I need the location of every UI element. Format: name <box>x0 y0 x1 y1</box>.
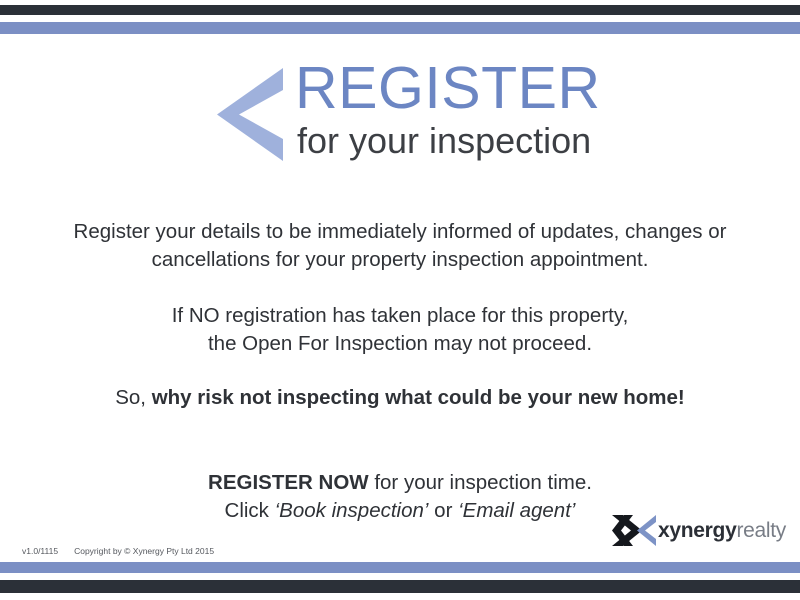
paragraph-emphasis: So, why risk not inspecting what could b… <box>50 384 750 412</box>
paragraph-warning: If NO registration has taken place for t… <box>50 302 750 358</box>
cta-option-book-inspection: ‘Book inspection’ <box>275 499 429 522</box>
paragraph-warning-line2: the Open For Inspection may not proceed. <box>50 330 750 358</box>
brand-logo: xynergyrealty <box>612 513 786 547</box>
brand-name-primary: xynergy <box>658 519 736 542</box>
spacer <box>50 358 750 384</box>
masthead: REGISTER for your inspection <box>0 58 800 173</box>
page-title: REGISTER <box>295 58 575 118</box>
paragraph-intro-line1: Register your details to be immediately … <box>50 218 750 246</box>
spacer <box>50 274 750 302</box>
paragraph-intro: Register your details to be immediately … <box>50 218 750 274</box>
bottom-blue-rule <box>0 562 800 573</box>
paragraph-intro-line2: cancellations for your property inspecti… <box>50 246 750 274</box>
cta-click-prefix: Click <box>225 499 275 522</box>
paragraph-emphasis-bold: why risk not inspecting what could be yo… <box>152 386 685 409</box>
page-subtitle: for your inspection <box>297 120 575 162</box>
spacer <box>50 412 750 469</box>
cta-register-now: REGISTER NOW <box>208 471 369 494</box>
footer: v1.0/1115Copyright by © Xynergy Pty Ltd … <box>22 545 214 557</box>
cta-conjunction: or <box>428 499 458 522</box>
cta-line1-rest: for your inspection time. <box>369 471 592 494</box>
body-copy: Register your details to be immediately … <box>50 218 750 525</box>
bottom-dark-rule <box>0 580 800 593</box>
paragraph-warning-line1: If NO registration has taken place for t… <box>50 302 750 330</box>
brand-logo-text: xynergyrealty <box>658 520 786 541</box>
paragraph-cta-line1: REGISTER NOW for your inspection time. <box>50 469 750 497</box>
xynergy-x-mark-icon <box>612 515 656 546</box>
footer-copyright: Copyright by © Xynergy Pty Ltd 2015 <box>74 546 214 556</box>
masthead-title-block: REGISTER for your inspection <box>295 58 575 162</box>
footer-version: v1.0/1115 <box>22 546 58 556</box>
top-dark-rule <box>0 5 800 15</box>
top-blue-rule <box>0 22 800 34</box>
brand-name-secondary: realty <box>736 519 786 542</box>
cta-option-email-agent: ‘Email agent’ <box>458 499 575 522</box>
paragraph-emphasis-lead: So, <box>115 386 151 409</box>
chevron-left-icon <box>217 68 283 161</box>
